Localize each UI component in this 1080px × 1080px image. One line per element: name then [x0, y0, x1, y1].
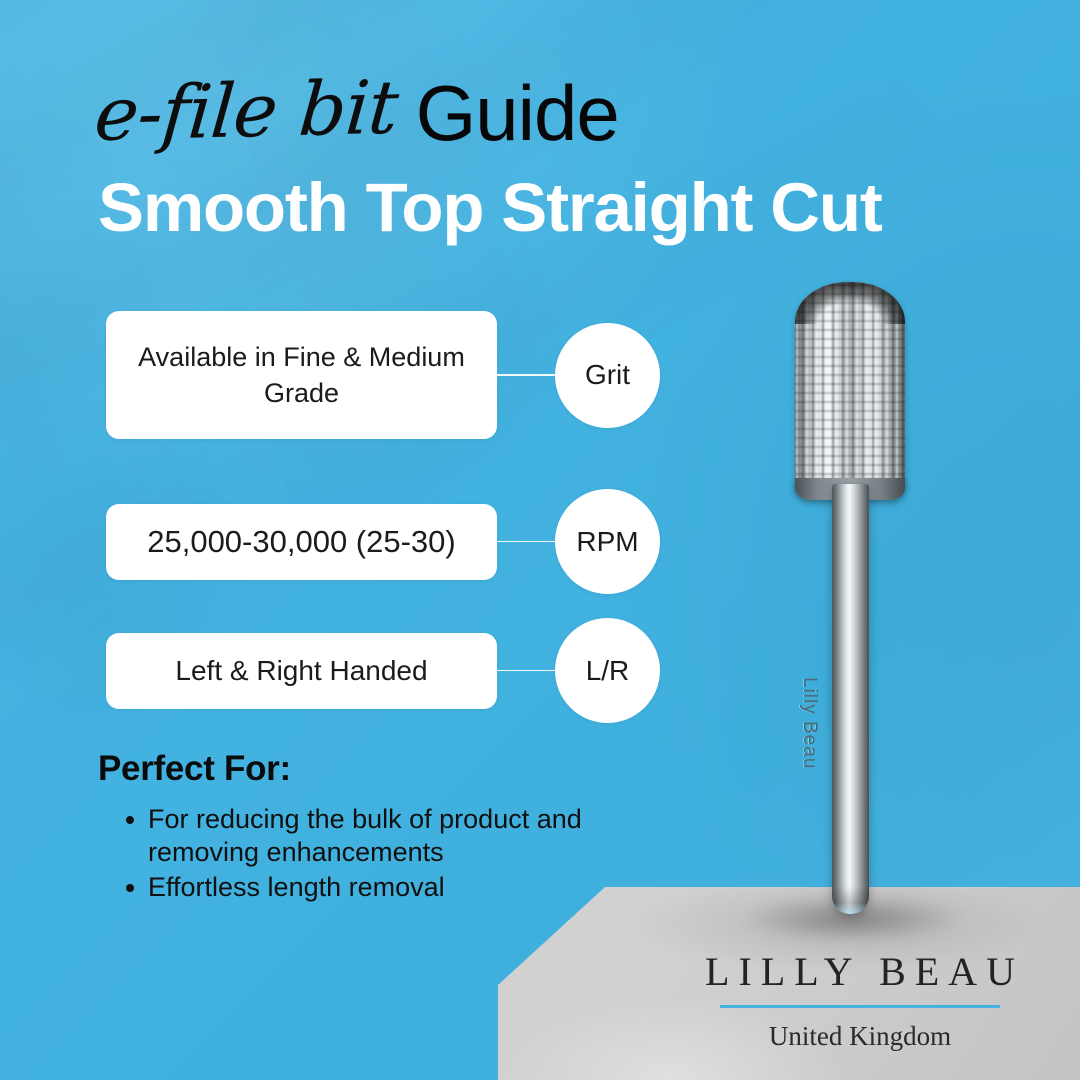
title-script-word: e-file bit [92, 71, 400, 152]
infographic-canvas: e-file bit Guide Smooth Top Straight Cut… [0, 0, 1080, 1080]
title-guide-word: Guide [416, 74, 619, 152]
spec-row-handedness: Left & Right Handed L/R [106, 618, 660, 723]
page-title: e-file bit Guide [92, 74, 619, 152]
spec-value-handedness: Left & Right Handed [106, 633, 497, 709]
bit-dome-shading [795, 282, 905, 324]
brand-name: LILLY BEAU [660, 952, 1060, 992]
spec-value-rpm: 25,000-30,000 (25-30) [106, 504, 497, 580]
list-item: For reducing the bulk of product and rem… [148, 803, 618, 869]
perfect-for-list: For reducing the bulk of product and rem… [112, 803, 618, 906]
perfect-for-heading: Perfect For: [98, 749, 291, 789]
spec-label-handedness: L/R [555, 618, 660, 723]
page-subtitle: Smooth Top Straight Cut [98, 172, 882, 244]
spec-label-grit: Grit [555, 323, 660, 428]
brand-divider [720, 1005, 1000, 1008]
spec-connector-line [497, 541, 555, 543]
brand-locale: United Kingdom [660, 1023, 1060, 1050]
spec-label-rpm: RPM [555, 489, 660, 594]
spec-row-rpm: 25,000-30,000 (25-30) RPM [106, 489, 660, 594]
bit-shank-engraving: Lilly Beau [798, 677, 820, 877]
bit-shank [832, 484, 869, 914]
spec-connector-line [497, 374, 555, 376]
product-image-efile-bit: Lilly Beau [790, 282, 910, 942]
brand-logo: LILLY BEAU United Kingdom [660, 952, 1060, 1050]
spec-row-grit: Available in Fine & Medium Grade Grit [106, 311, 660, 439]
spec-value-grit: Available in Fine & Medium Grade [106, 311, 497, 439]
list-item: Effortless length removal [148, 871, 618, 904]
bit-carbide-head [795, 282, 905, 494]
spec-connector-line [497, 670, 555, 672]
bit-shank-tip [832, 886, 869, 914]
